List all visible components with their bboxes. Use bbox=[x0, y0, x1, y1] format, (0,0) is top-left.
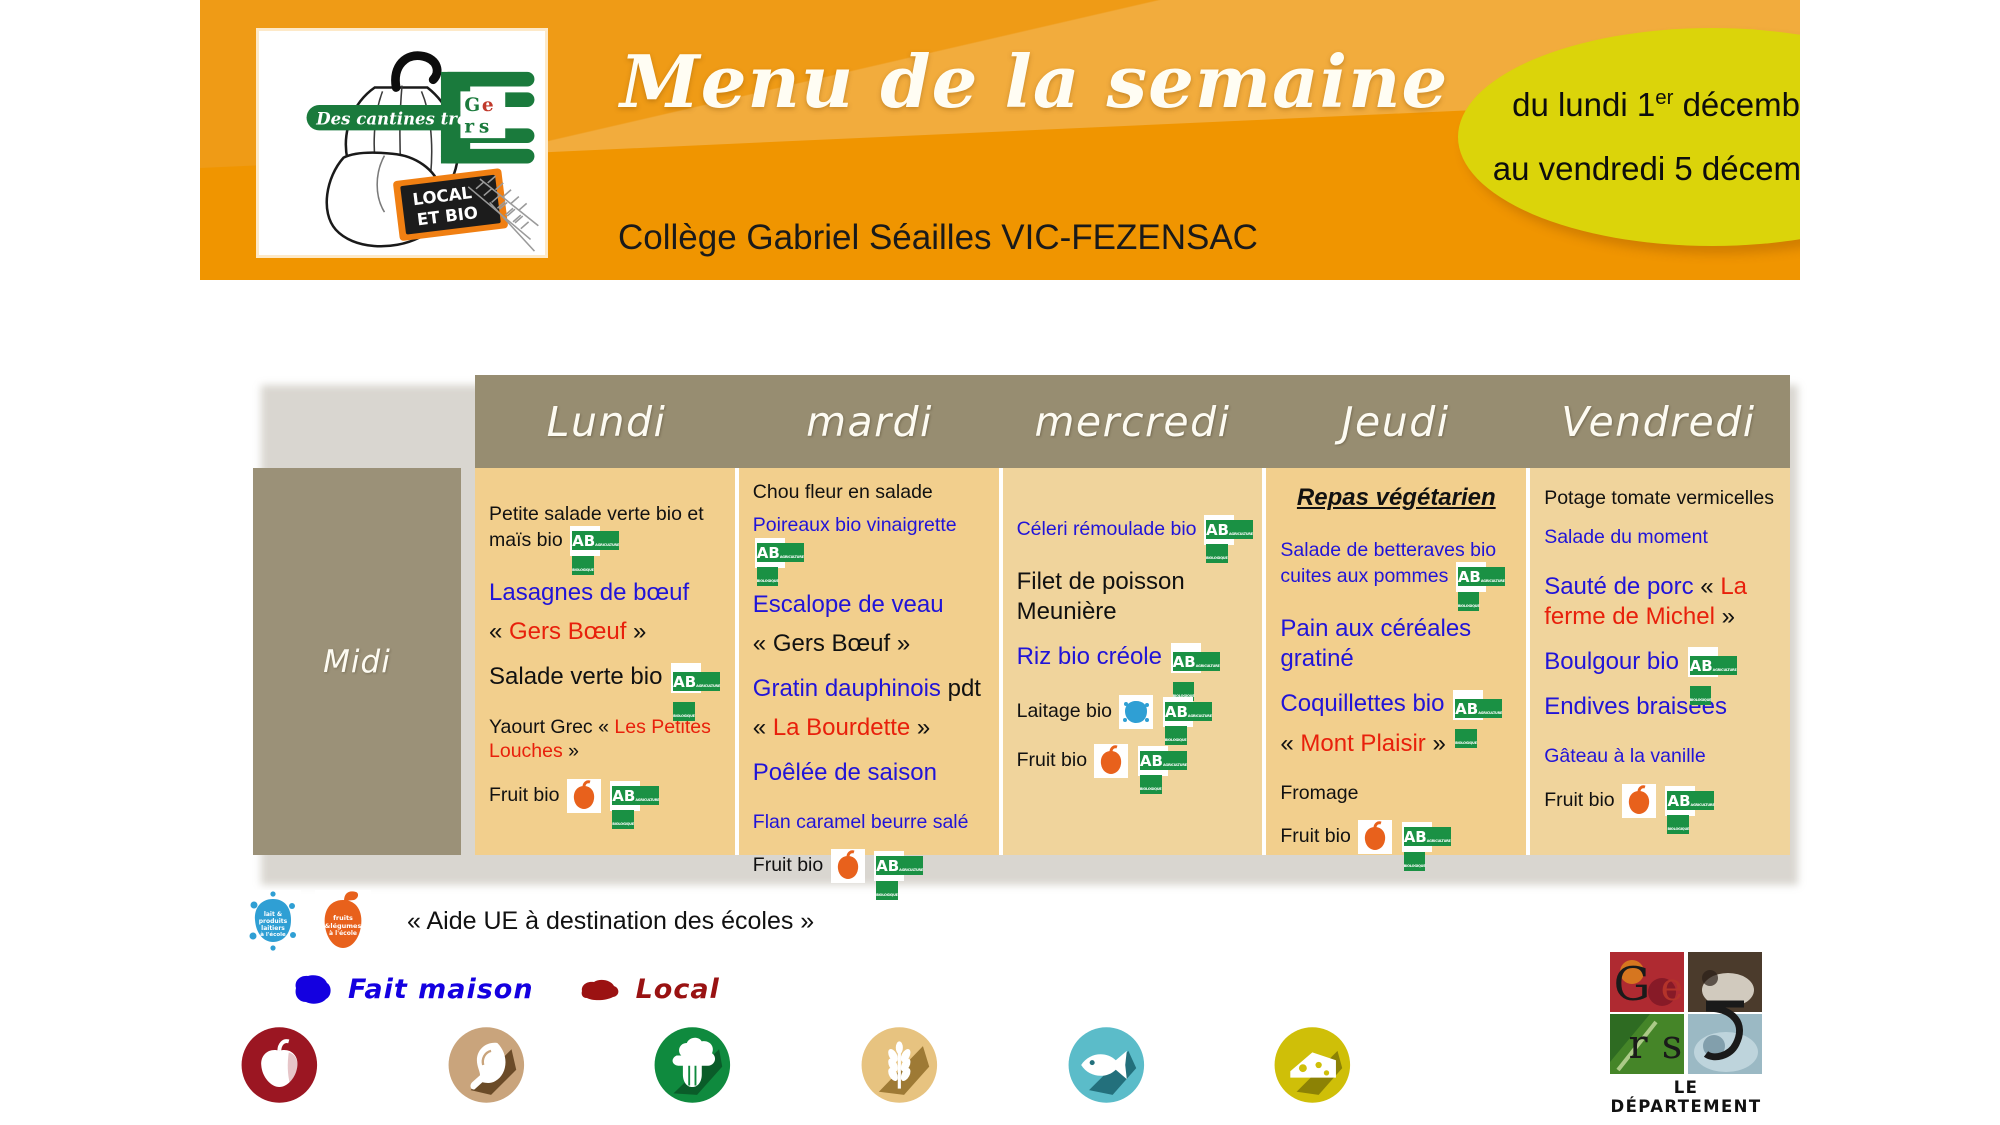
chicken-leg-icon bbox=[447, 1015, 526, 1115]
menu-item: Sauté de porc « La ferme de Michel » bbox=[1544, 572, 1776, 632]
fruits-ecole-icon bbox=[1094, 744, 1128, 778]
ue-aid-row: lait & produits laitiers à l'école fruit… bbox=[245, 890, 814, 952]
menu-item: Riz bio créole ABAGRICULTURE BIOLOGIQUE bbox=[1017, 642, 1249, 673]
ab-bio-icon: ABAGRICULTURE BIOLOGIQUE bbox=[1665, 786, 1695, 816]
date-from-main: du lundi 1 bbox=[1512, 86, 1655, 123]
svg-text:fruits: fruits bbox=[333, 914, 353, 922]
apple-icon bbox=[240, 1015, 319, 1115]
day-header-lundi: Lundi bbox=[475, 375, 738, 468]
fruits-ecole-icon bbox=[1622, 784, 1656, 818]
menu-item: « Gers Bœuf » bbox=[753, 629, 985, 659]
svg-text:lait &: lait & bbox=[264, 911, 282, 918]
svg-text:produits: produits bbox=[259, 918, 288, 925]
row-label-midi: Midi bbox=[253, 468, 461, 855]
ab-bio-icon: ABAGRICULTURE BIOLOGIQUE bbox=[610, 781, 640, 811]
ab-bio-icon: ABAGRICULTURE BIOLOGIQUE bbox=[570, 526, 600, 556]
fruits-ecole-icon: fruits &légumes à l'école bbox=[315, 890, 371, 952]
page-title: Menu de la semaine bbox=[620, 42, 1270, 121]
menu-item: Endives braisées bbox=[1544, 692, 1776, 722]
fish-icon bbox=[1067, 1015, 1146, 1115]
menu-item: Fruit bio ABAGRICULTURE BIOLOGIQUE bbox=[489, 779, 721, 813]
menu-item: Salade de betteraves bio cuites aux pomm… bbox=[1280, 538, 1512, 592]
header-banner: Des cantines très G e r s LOCAL ET BIO bbox=[200, 0, 1800, 280]
menu-item-text: Laitage bio bbox=[1017, 700, 1112, 722]
gers-logo-caption: LE DÉPARTEMENT bbox=[1610, 1078, 1762, 1116]
svg-text:s: s bbox=[1662, 1022, 1683, 1068]
menu-item: Poêlée de saison bbox=[753, 758, 985, 788]
vegetarian-meal-label: Repas végétarien bbox=[1280, 484, 1512, 512]
day-header-mercredi: mercredi bbox=[1001, 375, 1264, 468]
table-body-row: Petite salade verte bio et maïs bio ABAG… bbox=[475, 468, 1790, 855]
day-header-jeudi: Jeudi bbox=[1264, 375, 1527, 468]
menu-item-text: Fruit bio bbox=[1017, 749, 1087, 771]
ue-aid-text: « Aide UE à destination des écoles » bbox=[407, 907, 814, 936]
date-to: au vendredi 5 décembre 2025 bbox=[1493, 150, 1800, 188]
menu-column-mardi: Chou fleur en salade Poireaux bio vinaig… bbox=[739, 468, 1003, 855]
svg-text:&légumes: &légumes bbox=[325, 922, 362, 930]
menu-item-text: Sauté de porc bbox=[1544, 573, 1693, 600]
ab-bio-icon: ABAGRICULTURE BIOLOGIQUE bbox=[1688, 647, 1718, 677]
menu-column-jeudi: Repas végétarien Salade de betteraves bi… bbox=[1266, 468, 1530, 855]
menu-item: Fruit bio ABAGRICULTURE BIOLOGIQUE bbox=[1017, 744, 1249, 778]
menu-item-text: Fruit bio bbox=[489, 784, 559, 806]
menu-item: Fruit bio ABAGRICULTURE BIOLOGIQUE bbox=[1280, 820, 1512, 854]
fait-maison-label: Fait maison bbox=[348, 974, 534, 1005]
fruits-ecole-icon bbox=[567, 779, 601, 813]
menu-column-vendredi: Potage tomate vermicelles Salade du mome… bbox=[1530, 468, 1790, 855]
date-from-ordinal: er bbox=[1655, 86, 1673, 109]
svg-text:G: G bbox=[464, 95, 480, 116]
lait-ecole-icon bbox=[1119, 695, 1153, 729]
menu-item: Gratin dauphinois pdt bbox=[753, 674, 985, 704]
menu-item: Filet de poisson Meunière bbox=[1017, 567, 1249, 627]
menu-column-lundi: Petite salade verte bio et maïs bio ABAG… bbox=[475, 468, 739, 855]
ab-bio-icon: ABAGRICULTURE BIOLOGIQUE bbox=[1171, 643, 1201, 673]
broccoli-icon bbox=[653, 1015, 732, 1115]
menu-item: Poireaux bio vinaigrette ABAGRICULTURE B… bbox=[753, 513, 985, 567]
menu-item-text: Riz bio créole bbox=[1017, 643, 1162, 670]
menu-item: Pain aux céréales gratiné bbox=[1280, 614, 1512, 674]
local-icon bbox=[578, 972, 622, 1006]
gers-logo-grid: G e r s bbox=[1610, 952, 1762, 1074]
menu-column-mercredi: Céleri rémoulade bio ABAGRICULTURE BIOLO… bbox=[1003, 468, 1267, 855]
menu-table: Lundi mardi mercredi Jeudi Vendredi Midi… bbox=[253, 375, 1790, 875]
ab-bio-icon: ABAGRICULTURE BIOLOGIQUE bbox=[874, 851, 904, 881]
supplier-name: Mont Plaisir bbox=[1300, 730, 1425, 757]
svg-text:r: r bbox=[1628, 1022, 1648, 1068]
ab-bio-icon: ABAGRICULTURE BIOLOGIQUE bbox=[1456, 562, 1486, 592]
wheat-icon bbox=[860, 1015, 939, 1115]
cantines-logo-svg: Des cantines très G e r s LOCAL ET BIO bbox=[259, 31, 545, 255]
menu-item-text: Poireaux bio vinaigrette bbox=[753, 514, 957, 536]
menu-item: Gâteau à la vanille bbox=[1544, 744, 1776, 768]
ab-bio-icon: ABAGRICULTURE BIOLOGIQUE bbox=[1402, 822, 1432, 852]
ab-bio-icon: ABAGRICULTURE BIOLOGIQUE bbox=[755, 538, 785, 568]
menu-item: « Mont Plaisir » bbox=[1280, 729, 1512, 759]
menu-item: Céleri rémoulade bio ABAGRICULTURE BIOLO… bbox=[1017, 515, 1249, 545]
menu-item: Fruit bio ABAGRICULTURE BIOLOGIQUE bbox=[1544, 784, 1776, 818]
svg-text:Des cantines très: Des cantines très bbox=[315, 108, 477, 128]
date-from: du lundi 1er décembre 2025 bbox=[1512, 86, 1800, 124]
menu-item: Laitage bio ABAGRICULTURE BIOLOGIQUE bbox=[1017, 695, 1249, 729]
food-category-icons bbox=[240, 1015, 1480, 1115]
ab-bio-icon: ABAGRICULTURE BIOLOGIQUE bbox=[1204, 515, 1234, 545]
svg-text:e: e bbox=[482, 95, 494, 116]
menu-item-text: Fruit bio bbox=[1280, 826, 1350, 848]
menu-item: « La Bourdette » bbox=[753, 713, 985, 743]
gers-department-logo: G e r s LE DÉPARTEMENT bbox=[1610, 952, 1762, 1104]
svg-text:à l'école: à l'école bbox=[260, 931, 286, 938]
table-header-row: Lundi mardi mercredi Jeudi Vendredi bbox=[475, 375, 1790, 468]
fruits-ecole-icon bbox=[831, 849, 865, 883]
menu-item: Chou fleur en salade bbox=[753, 480, 985, 504]
school-name: Collège Gabriel Séailles VIC-FEZENSAC bbox=[618, 218, 1258, 258]
menu-item: « Gers Bœuf » bbox=[489, 617, 721, 647]
menu-item: Salade du moment bbox=[1544, 525, 1776, 549]
menu-item: Escalope de veau bbox=[753, 590, 985, 620]
menu-item-text: Gratin dauphinois bbox=[753, 675, 941, 702]
menu-item: Potage tomate vermicelles bbox=[1544, 486, 1776, 510]
menu-item: Flan caramel beurre salé bbox=[753, 810, 985, 834]
menu-item: Fromage bbox=[1280, 781, 1512, 805]
menu-item: Lasagnes de bœuf bbox=[489, 578, 721, 608]
menu-item-text: Céleri rémoulade bio bbox=[1017, 518, 1197, 540]
svg-text:G: G bbox=[1614, 957, 1651, 1011]
menu-item: Boulgour bio ABAGRICULTURE BIOLOGIQUE bbox=[1544, 647, 1776, 678]
date-from-rest: décembre 2025 bbox=[1673, 86, 1800, 123]
svg-text:e: e bbox=[1661, 965, 1684, 1009]
svg-text:r: r bbox=[464, 116, 474, 137]
day-header-vendredi: Vendredi bbox=[1527, 375, 1790, 468]
svg-text:s: s bbox=[479, 116, 489, 137]
makers-legend-row: Fait maison Local bbox=[290, 972, 750, 1006]
menu-item-text: Fruit bio bbox=[753, 854, 823, 876]
menu-item-text: Fruit bio bbox=[1544, 789, 1614, 811]
menu-item: Petite salade verte bio et maïs bio ABAG… bbox=[489, 502, 721, 556]
cantines-logo: Des cantines très G e r s LOCAL ET BIO bbox=[256, 28, 548, 258]
day-header-mardi: mardi bbox=[738, 375, 1001, 468]
menu-item-text: Boulgour bio bbox=[1544, 648, 1679, 675]
cheese-icon bbox=[1273, 1015, 1352, 1115]
supplier-name: Gers Bœuf bbox=[509, 618, 626, 645]
menu-item: Coquillettes bio ABAGRICULTURE BIOLOGIQU… bbox=[1280, 689, 1512, 720]
svg-text:laitiers: laitiers bbox=[261, 925, 285, 932]
menu-item-text: Salade verte bio bbox=[489, 663, 662, 690]
ab-bio-icon: ABAGRICULTURE BIOLOGIQUE bbox=[1163, 697, 1193, 727]
fruits-ecole-icon bbox=[1358, 820, 1392, 854]
lait-ecole-icon: lait & produits laitiers à l'école bbox=[245, 890, 301, 952]
ab-bio-icon: ABAGRICULTURE BIOLOGIQUE bbox=[671, 663, 701, 693]
supplier-name: La Bourdette bbox=[773, 714, 910, 741]
svg-text:à l'école: à l'école bbox=[329, 930, 357, 937]
menu-item: Salade verte bio ABAGRICULTURE BIOLOGIQU… bbox=[489, 662, 721, 693]
menu-item: Fruit bio ABAGRICULTURE BIOLOGIQUE bbox=[753, 849, 985, 883]
ab-bio-icon: ABAGRICULTURE BIOLOGIQUE bbox=[1453, 690, 1483, 720]
fait-maison-icon bbox=[290, 972, 334, 1006]
menu-item-text: Coquillettes bio bbox=[1280, 690, 1444, 717]
local-label: Local bbox=[636, 974, 720, 1005]
ab-bio-icon: ABAGRICULTURE BIOLOGIQUE bbox=[1138, 746, 1168, 776]
